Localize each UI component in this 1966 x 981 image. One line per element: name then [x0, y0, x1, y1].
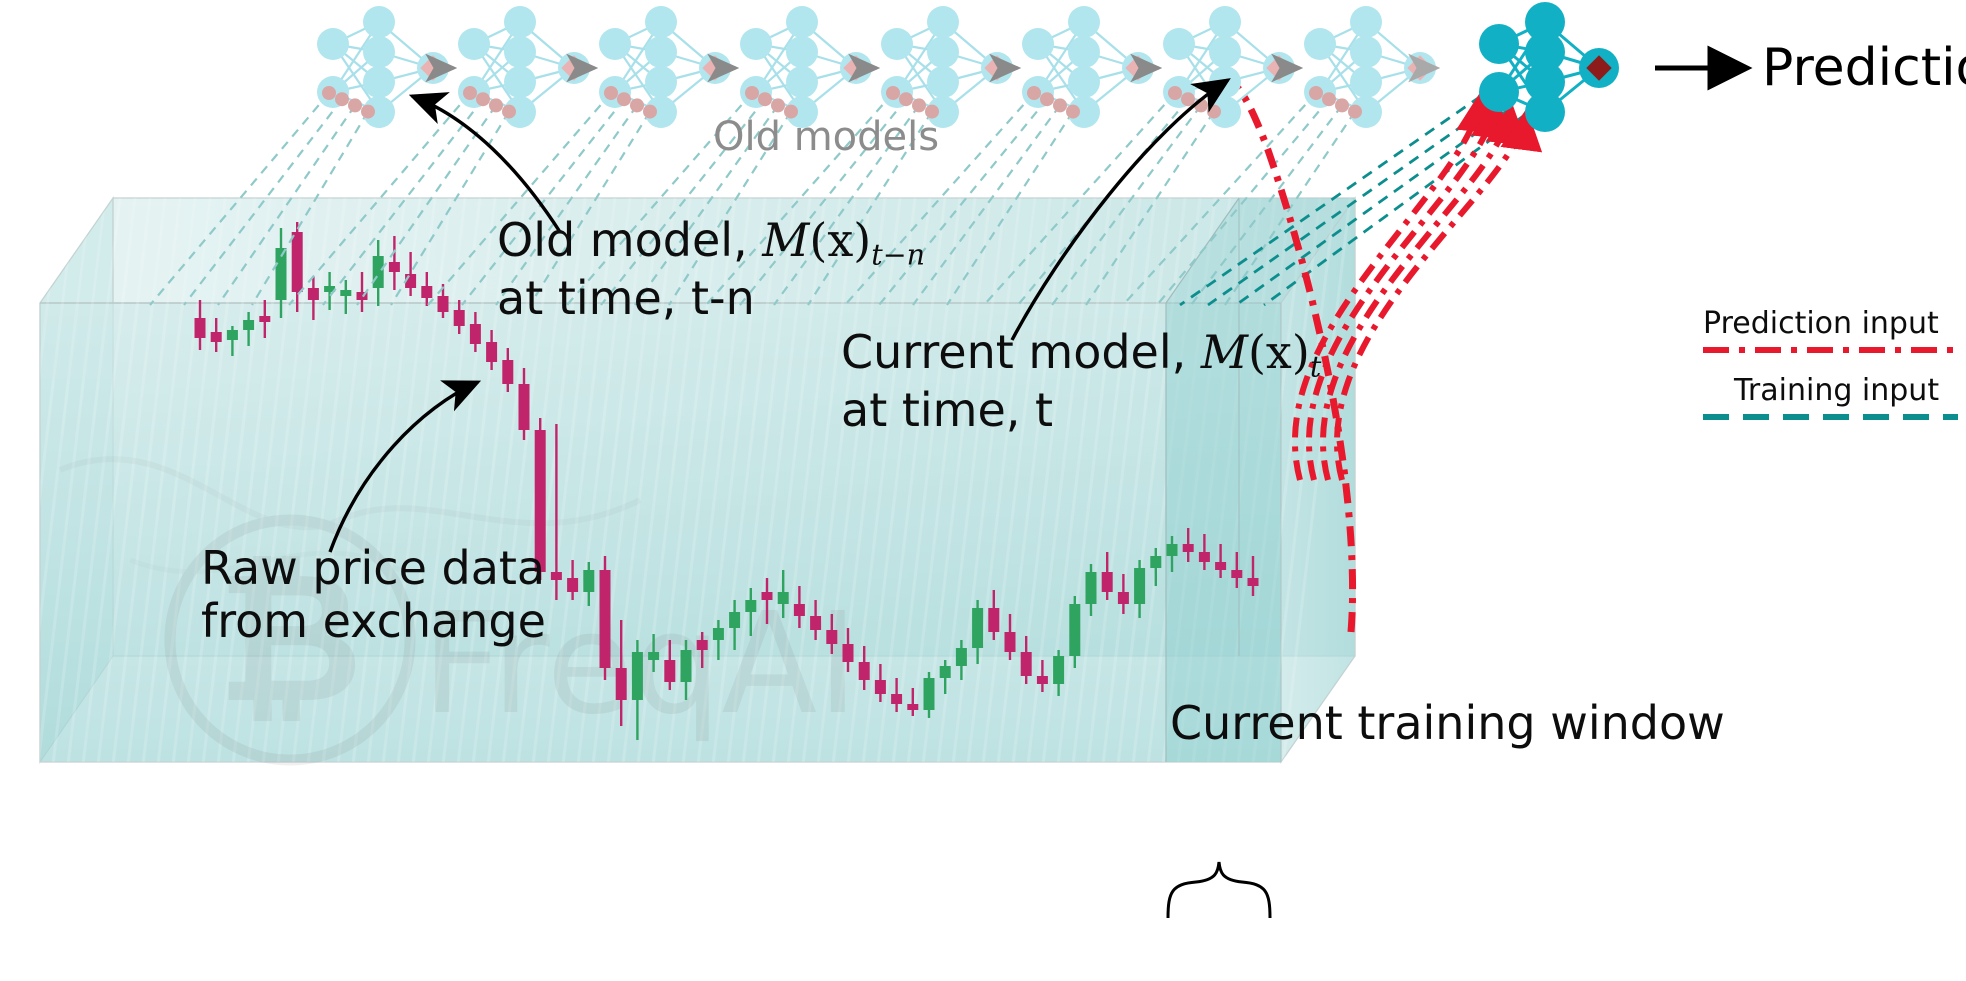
model-input-dot [322, 86, 336, 100]
current-model-math-subscript: t [1310, 351, 1321, 384]
old-model-network [881, 6, 1013, 128]
old-model-network [740, 6, 872, 128]
model-input-dot [1053, 98, 1067, 112]
old-model-time-line: at time, t-n [497, 272, 925, 325]
model-input-dot [1066, 105, 1080, 119]
model-input-dot [489, 98, 503, 112]
old-model-network [599, 6, 731, 128]
legend-label-prediction-input: Prediction input [1703, 306, 1939, 341]
old-model-math-M: M [762, 213, 809, 267]
model-input-dot [1168, 86, 1182, 100]
old-model-annotation: Old model, M(x)t−n at time, t-n [497, 214, 925, 325]
model-input-dot [630, 98, 644, 112]
model-input-dot [745, 86, 759, 100]
model-input-dot [1322, 92, 1336, 106]
legend-label-training-input: Training input [1734, 373, 1939, 408]
model-input-dot [1309, 86, 1323, 100]
model-input-dot [617, 92, 631, 106]
raw-price-annotation: Raw price data from exchange [201, 542, 546, 648]
current-model-text-prefix: Current model, [841, 325, 1201, 379]
current-model-network [1479, 2, 1619, 132]
model-input-dot [912, 98, 926, 112]
model-input-dot [502, 105, 516, 119]
old-models-label: Old models [713, 114, 939, 160]
old-model-network [1022, 6, 1154, 128]
prediction-label: Prediction [1762, 38, 1966, 98]
model-input-dot [886, 86, 900, 100]
old-model-network [317, 6, 449, 128]
prediction-input-line [1337, 114, 1526, 480]
model-input-dot [1027, 86, 1041, 100]
model-input-dot [476, 92, 490, 106]
model-input-dot [643, 105, 657, 119]
old-model-math-x: (x) [809, 213, 871, 267]
model-input-dot [1040, 92, 1054, 106]
diagram-svg: ₿ FreqAI [0, 0, 1966, 981]
model-input-dot [335, 92, 349, 106]
model-input-dot [361, 105, 375, 119]
model-input-dot [1207, 105, 1221, 119]
model-input-dot [771, 98, 785, 112]
model-input-dot [899, 92, 913, 106]
current-model-math-M: M [1201, 325, 1248, 379]
model-input-dot [463, 86, 477, 100]
current-model-math-x: (x) [1248, 325, 1310, 379]
current-model-time-line: at time, t [841, 384, 1321, 437]
old-model-network [1163, 6, 1295, 128]
old-model-math-subscript: t−n [871, 239, 925, 272]
model-input-dot [1348, 105, 1362, 119]
old-model-network [458, 6, 590, 128]
model-input-dot [1335, 98, 1349, 112]
diagram-canvas: ₿ FreqAI [0, 0, 1966, 981]
current-model-annotation: Current model, M(x)t at time, t [841, 326, 1321, 437]
old-model-text-prefix: Old model, [497, 213, 762, 267]
model-input-dot [348, 98, 362, 112]
raw-price-line-1: Raw price data [201, 542, 546, 595]
raw-price-line-2: from exchange [201, 595, 546, 648]
old-model-network [1304, 6, 1436, 128]
model-input-dot [604, 86, 618, 100]
current-training-window-label: Current training window [1170, 697, 1725, 750]
training-window-brace [1168, 862, 1270, 918]
model-networks [317, 2, 1619, 132]
model-input-dot [758, 92, 772, 106]
